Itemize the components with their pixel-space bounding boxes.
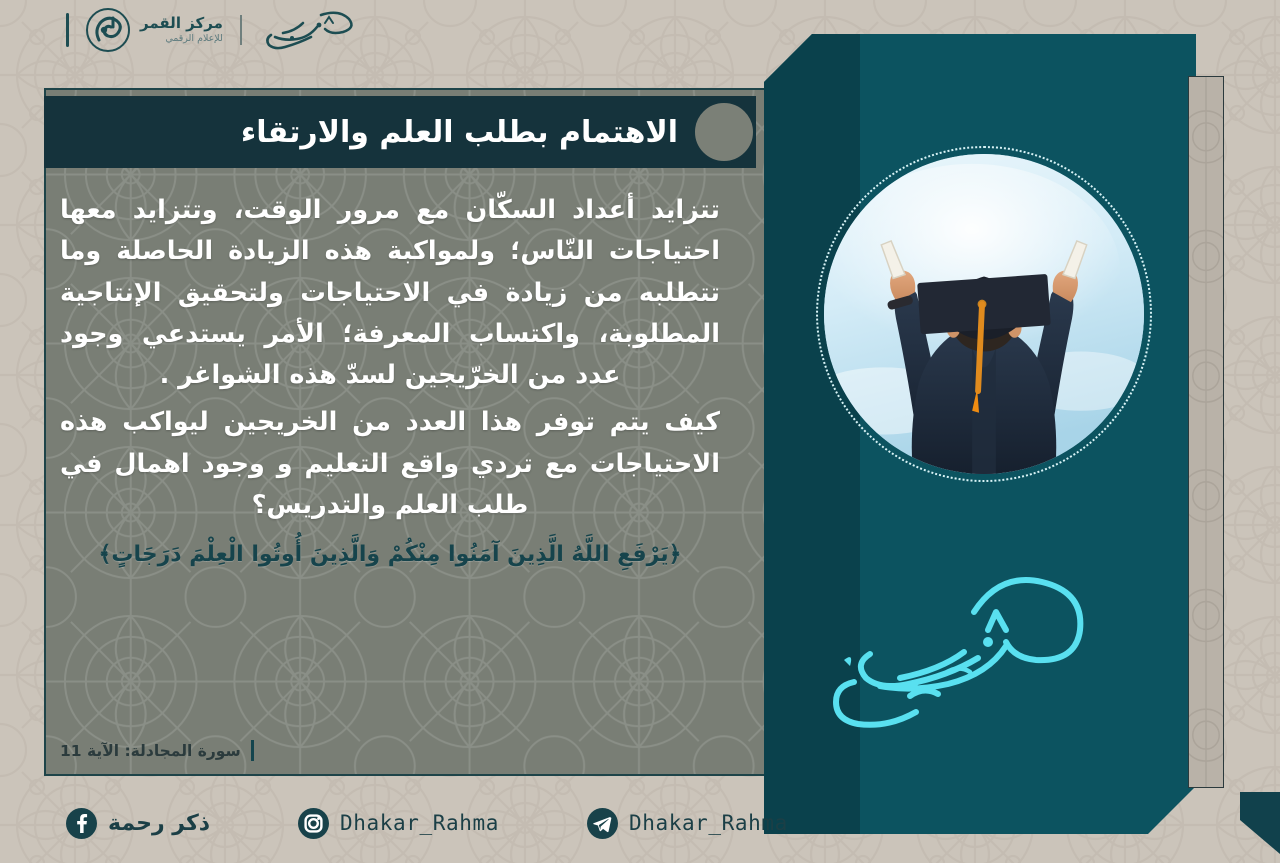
article-body: تتزايد أعداد السكّان مع مرور الوقت، وتتز… [60, 190, 720, 575]
facebook-handle[interactable]: ذكر رحمة [108, 811, 210, 836]
footer-social-bar: ذكر رحمة Dhakar_Rahma Dhakar_Rahma [0, 792, 1280, 854]
photo-frame [816, 146, 1152, 482]
qamar-monogram-icon [85, 7, 131, 53]
telegram-handle[interactable]: Dhakar_Rahma [629, 811, 788, 835]
panel-side-strip [1188, 76, 1224, 788]
brand-subtitle: للإعلام الرقمي [140, 34, 223, 44]
verse-source: سورة المجادلة: الآية 11 [60, 740, 254, 761]
quran-verse: ﴿يَرْفَعِ اللَّهُ الَّذِينَ آمَنُوا مِنْ… [60, 536, 720, 575]
panel-strip-ornament [1189, 77, 1223, 787]
paragraph-2: كيف يتم توفر هذا العدد من الخريجين ليواك… [60, 402, 720, 526]
dhakar-rahma-calligraphy-icon [259, 5, 363, 55]
telegram-icon[interactable] [587, 808, 618, 839]
brand-name: مركز القمر [140, 16, 223, 32]
brand-lockup: مركز القمر للإعلام الرقمي [140, 16, 223, 44]
graduate-photo [824, 154, 1144, 474]
dhakar-rahma-calligraphy-icon [792, 534, 1112, 764]
header-accent-rule [66, 13, 69, 47]
social-telegram[interactable]: Dhakar_Rahma [587, 808, 788, 839]
vertical-divider-icon [240, 15, 242, 45]
page-title: الاهتمام بطلب العلم والارتقاء [72, 115, 678, 150]
circle-knob-icon [692, 100, 756, 164]
instagram-handle[interactable]: Dhakar_Rahma [340, 811, 499, 835]
social-instagram[interactable]: Dhakar_Rahma [298, 808, 499, 839]
social-facebook[interactable]: ذكر رحمة [66, 808, 210, 839]
facebook-icon[interactable] [66, 808, 97, 839]
section-title-bar: الاهتمام بطلب العلم والارتقاء [44, 96, 756, 168]
right-panel [764, 34, 1232, 834]
page-header: مركز القمر للإعلام الرقمي [0, 0, 1280, 60]
source-text: سورة المجادلة: الآية 11 [60, 742, 241, 760]
instagram-icon[interactable] [298, 808, 329, 839]
source-accent-bar [251, 740, 254, 761]
paragraph-1: تتزايد أعداد السكّان مع مرور الوقت، وتتز… [60, 190, 720, 396]
